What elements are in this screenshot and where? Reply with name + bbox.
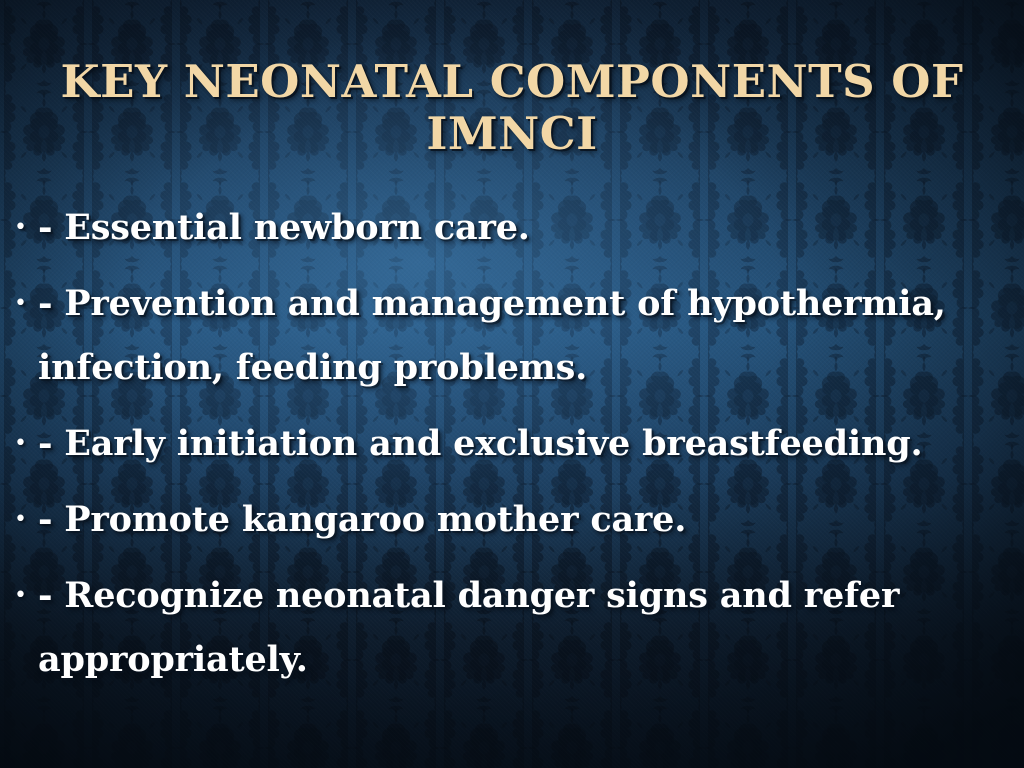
list-item-text: - Recognize neonatal danger signs and re…	[38, 564, 1012, 692]
bullet-point-icon: •	[14, 412, 38, 476]
bullet-point-icon: •	[14, 488, 38, 552]
list-item-text: - Prevention and management of hypotherm…	[38, 272, 1012, 400]
list-item: • - Essential newborn care.	[0, 196, 1024, 260]
list-item-text: - Early initiation and exclusive breastf…	[38, 412, 1012, 476]
list-item: • - Prevention and management of hypothe…	[0, 272, 1024, 400]
list-item: • - Early initiation and exclusive breas…	[0, 412, 1024, 476]
bullet-point-icon: •	[14, 564, 38, 628]
list-item-text: - Essential newborn care.	[38, 196, 1012, 260]
list-item-text: - Promote kangaroo mother care.	[38, 488, 1012, 552]
presentation-slide: Key Neonatal Components of IMNCI • - Ess…	[0, 0, 1024, 768]
slide-title: Key Neonatal Components of IMNCI	[56, 56, 968, 160]
bullet-list: • - Essential newborn care. • - Preventi…	[0, 196, 1024, 704]
list-item: • - Promote kangaroo mother care.	[0, 488, 1024, 552]
list-item: • - Recognize neonatal danger signs and …	[0, 564, 1024, 692]
bullet-point-icon: •	[14, 196, 38, 260]
bullet-point-icon: •	[14, 272, 38, 336]
slide-content: Key Neonatal Components of IMNCI • - Ess…	[0, 0, 1024, 768]
